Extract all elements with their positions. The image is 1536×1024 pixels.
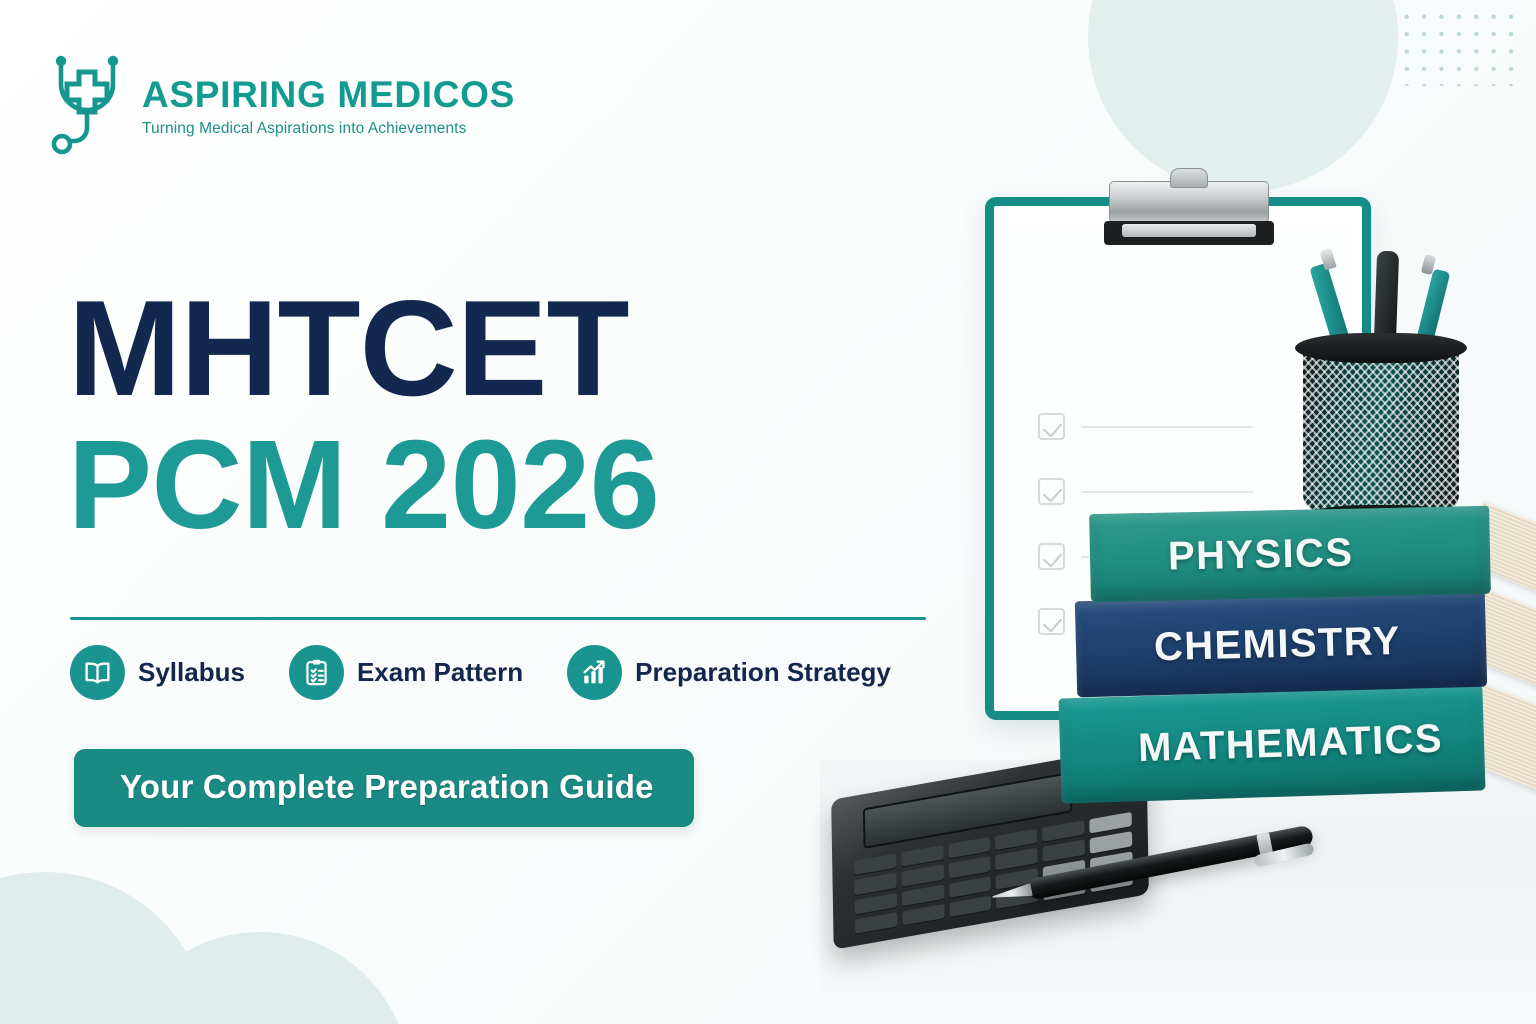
brand-logo-text: ASPIRING MEDICOS Turning Medical Aspirat…: [142, 70, 515, 138]
brand-logo[interactable]: ASPIRING MEDICOS Turning Medical Aspirat…: [44, 52, 515, 156]
feature-badge-syllabus[interactable]: Syllabus: [70, 645, 245, 700]
pen-cup-rim: [1295, 333, 1467, 363]
checklist-row: [1038, 478, 1253, 505]
study-materials-photo: PHYSICS CHEMISTRY MATHEMATICS: [820, 0, 1536, 1024]
checkbox-icon: [1038, 478, 1065, 505]
bar-chart-growth-icon: [567, 645, 622, 700]
cta-banner[interactable]: Your Complete Preparation Guide: [74, 749, 694, 827]
open-book-icon: [70, 645, 125, 700]
stethoscope-medical-cross-icon: [44, 52, 130, 156]
title-line-exam: MHTCET: [68, 282, 659, 415]
feature-label: Preparation Strategy: [635, 657, 891, 688]
book-pages: [1479, 586, 1536, 688]
book-spine: MATHEMATICS: [1058, 685, 1485, 803]
title-line-stream-year: PCM 2026: [68, 421, 659, 550]
checkbox-icon: [1038, 608, 1065, 635]
brand-name: ASPIRING MEDICOS: [142, 76, 515, 113]
book-mathematics: MATHEMATICS: [1058, 685, 1485, 803]
checklist-line: [1081, 426, 1253, 428]
feature-label: Exam Pattern: [357, 657, 523, 688]
page-title: MHTCET PCM 2026: [68, 282, 659, 550]
book-chemistry: CHEMISTRY: [1075, 591, 1487, 698]
clipboard-clip-thumb: [1170, 168, 1208, 188]
feature-badge-list: Syllabus Exam Pattern: [70, 645, 891, 700]
brand-tagline: Turning Medical Aspirations into Achieve…: [142, 120, 515, 138]
clipboard-checklist-icon: [289, 645, 344, 700]
book-title: MATHEMATICS: [1137, 717, 1443, 772]
clipboard-clip-jaw: [1104, 221, 1274, 245]
clipboard-clip-spring: [1122, 224, 1256, 237]
book-title: CHEMISTRY: [1153, 618, 1401, 669]
checkbox-icon: [1038, 413, 1065, 440]
pen-holder-cup: [1295, 315, 1467, 527]
checklist-row: [1038, 413, 1253, 440]
title-divider: [70, 617, 926, 620]
feature-label: Syllabus: [138, 657, 245, 688]
book-spine: CHEMISTRY: [1075, 591, 1487, 698]
pen-cup-mesh-body: [1303, 343, 1459, 511]
book-pages: [1483, 501, 1536, 596]
checkbox-icon: [1038, 543, 1065, 570]
book-physics: PHYSICS: [1089, 506, 1491, 602]
book-title: PHYSICS: [1168, 530, 1354, 579]
cta-label: Your Complete Preparation Guide: [120, 768, 654, 805]
checklist-line: [1081, 491, 1253, 493]
feature-badge-exam-pattern[interactable]: Exam Pattern: [289, 645, 523, 700]
book-spine: PHYSICS: [1089, 506, 1491, 602]
feature-badge-preparation-strategy[interactable]: Preparation Strategy: [567, 645, 891, 700]
